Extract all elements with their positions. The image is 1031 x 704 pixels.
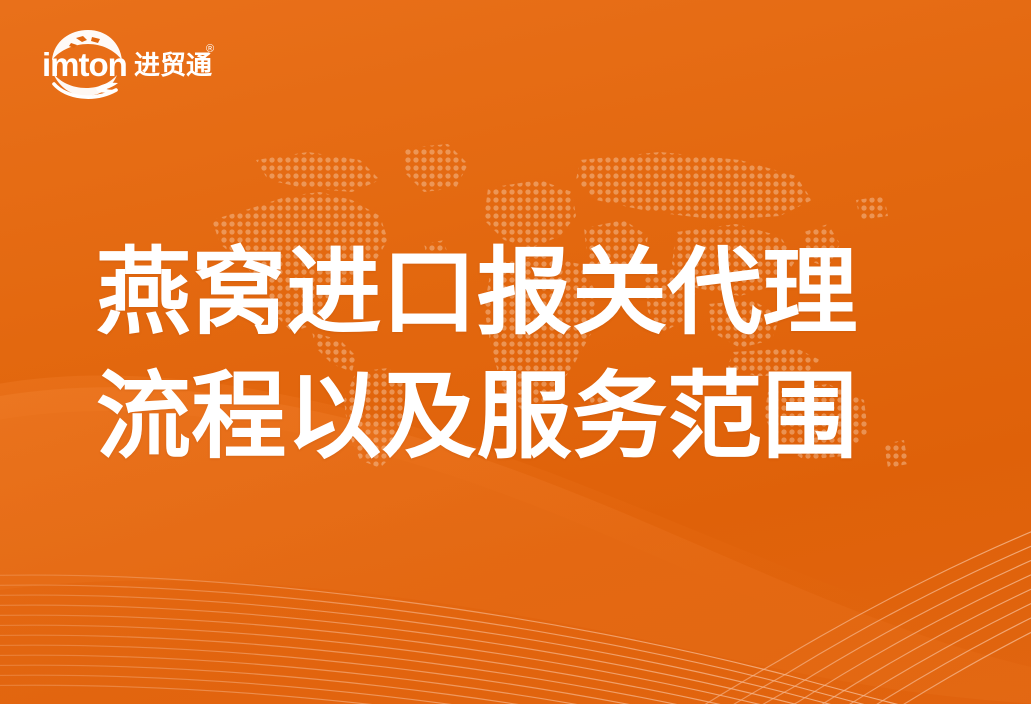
brand-logo[interactable]: imton 进贸通 ® — [40, 26, 216, 100]
logo-chinese-name: 进贸通 — [134, 50, 212, 80]
logo-trademark-icon: ® — [206, 43, 214, 55]
logo-wordmark: imton — [42, 46, 127, 83]
title-line-2: 流程以及服务范围 — [96, 356, 946, 480]
page-title: 燕窝进口报关代理 流程以及服务范围 — [96, 232, 946, 479]
title-line-1: 燕窝进口报关代理 — [96, 232, 946, 356]
promo-banner: imton 进贸通 ® 燕窝进口报关代理 流程以及服务范围 — [0, 0, 1031, 704]
